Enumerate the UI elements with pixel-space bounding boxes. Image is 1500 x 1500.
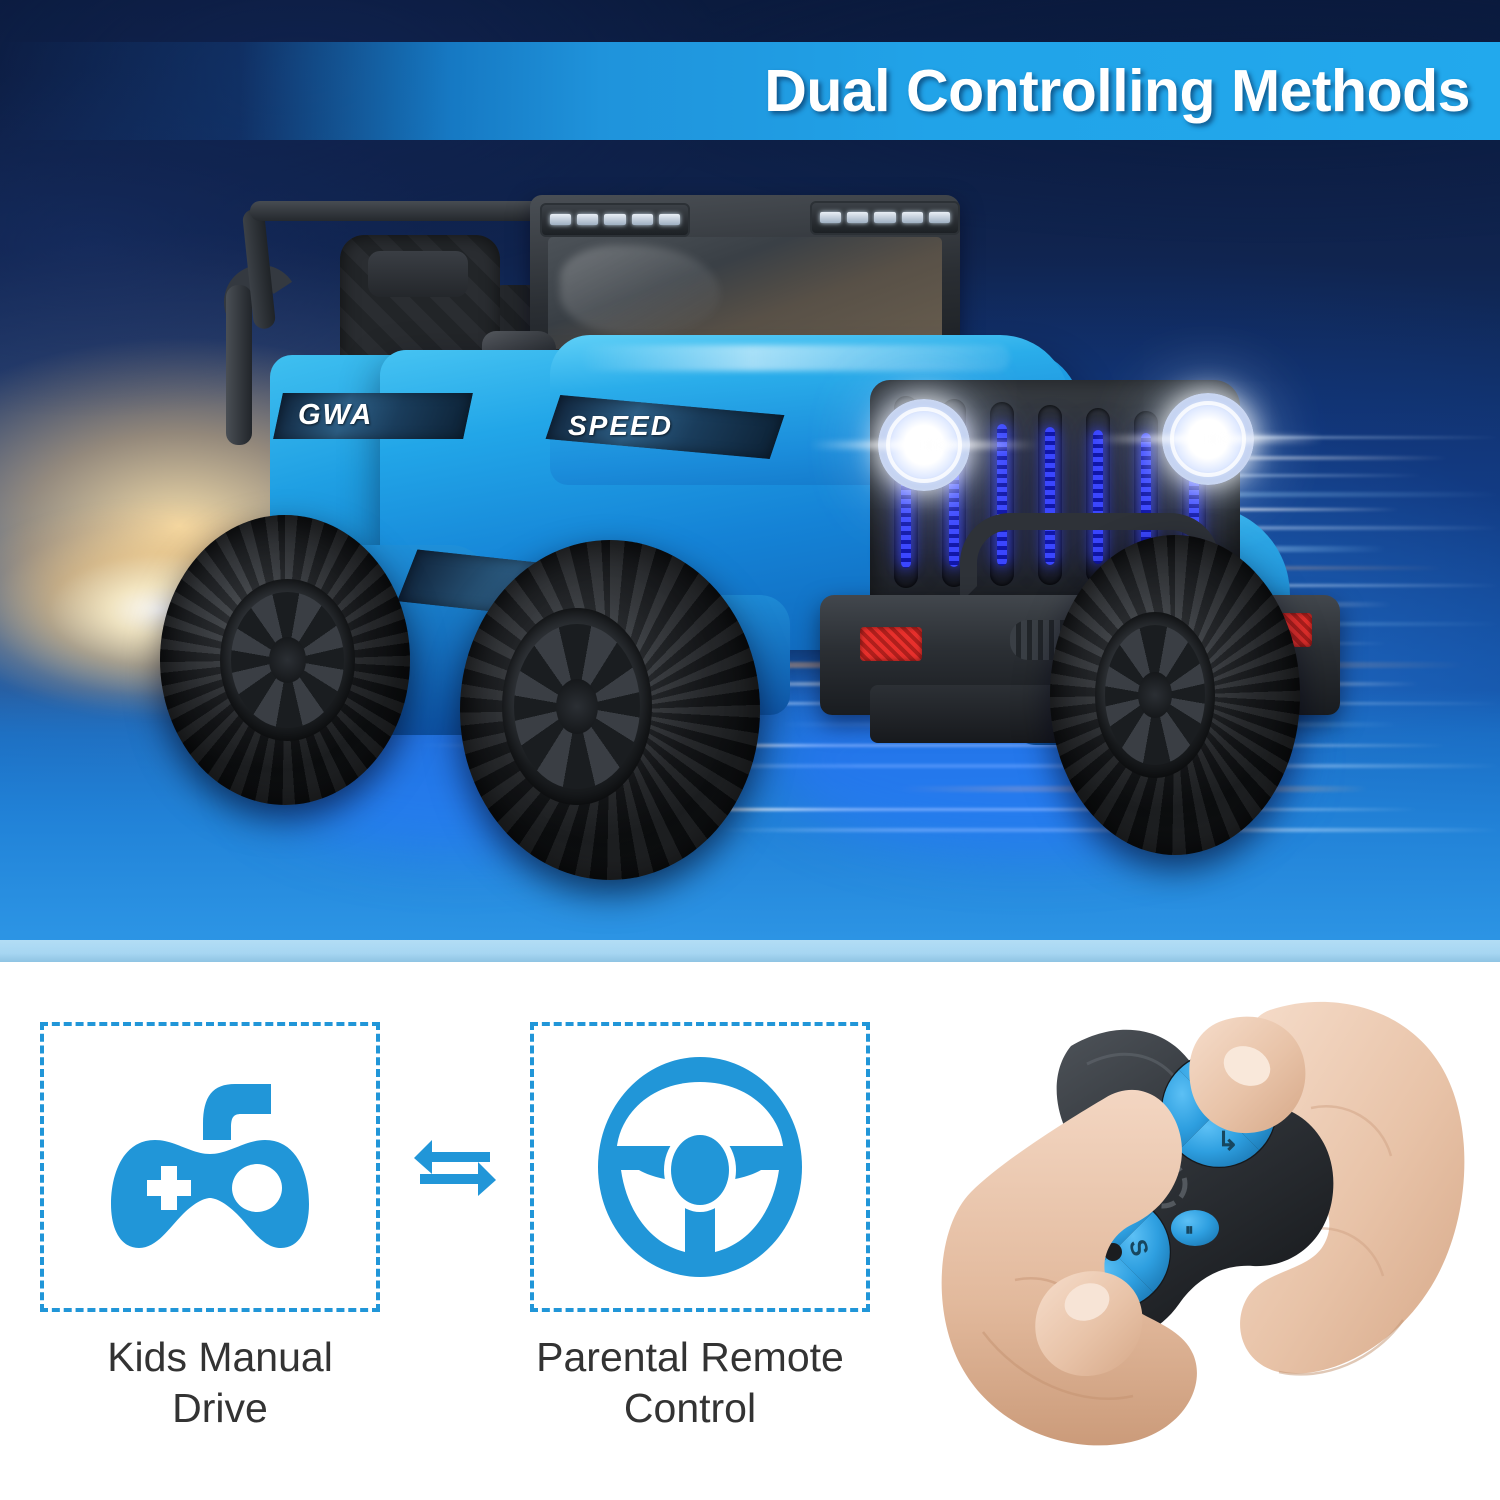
wheel-rear-right	[460, 540, 760, 880]
feature-box-kids-manual-drive[interactable]	[40, 1022, 380, 1312]
label-line-2: Drive	[40, 1383, 400, 1434]
driver-headrest	[368, 251, 468, 297]
led-light-bar-right	[810, 201, 960, 235]
hero-photo-panel: GWA SPEED	[0, 0, 1500, 940]
headlight-right	[1162, 393, 1254, 485]
feature-labels-row: Kids Manual Drive Parental Remote Contro…	[40, 1332, 870, 1462]
product-marketing-image: GWA SPEED	[0, 0, 1500, 1500]
page-title: Dual Controlling Methods	[764, 57, 1470, 125]
hands-holding-remote: P ↳ ↲ S ← ←	[875, 980, 1500, 1480]
decal-text-speed: SPEED	[568, 410, 673, 442]
steering-wheel-icon	[593, 1052, 808, 1282]
remote-control-photo: P ↳ ↲ S ← ←	[875, 980, 1500, 1480]
led-lens-right	[812, 209, 958, 225]
reflector-left	[860, 627, 922, 661]
decal-text-gwa: GWA	[298, 399, 373, 432]
label-line-2: Control	[510, 1383, 870, 1434]
features-panel: Kids Manual Drive Parental Remote Contro…	[0, 962, 1500, 1500]
power-button-glyph: ⏸	[1185, 1220, 1194, 1239]
wheel-rear-left	[160, 515, 410, 805]
label-line-1: Kids Manual	[40, 1332, 400, 1383]
roll-bar-stack	[226, 285, 252, 445]
swap-arrows-wrapper	[405, 1128, 505, 1206]
headlight-left	[878, 399, 970, 491]
title-banner: Dual Controlling Methods	[0, 42, 1500, 140]
wheel-front-right	[1050, 535, 1300, 855]
led-light-bar-left	[540, 203, 690, 237]
section-divider	[0, 940, 1500, 962]
hood-highlight	[580, 345, 1010, 371]
ride-on-jeep: GWA SPEED	[130, 165, 1330, 925]
right-thumb	[1189, 1017, 1305, 1133]
exchange-arrows-icon	[412, 1128, 498, 1206]
label-parental-remote-control: Parental Remote Control	[510, 1332, 870, 1462]
feature-box-parental-remote-control[interactable]	[530, 1022, 870, 1312]
feature-icon-row	[40, 1017, 870, 1317]
led-lens-left	[542, 211, 688, 227]
gamepad-icon	[95, 1062, 325, 1272]
label-kids-manual-drive: Kids Manual Drive	[40, 1332, 400, 1462]
label-line-1: Parental Remote	[510, 1332, 870, 1383]
power-button[interactable]: ⏸	[1171, 1210, 1219, 1246]
